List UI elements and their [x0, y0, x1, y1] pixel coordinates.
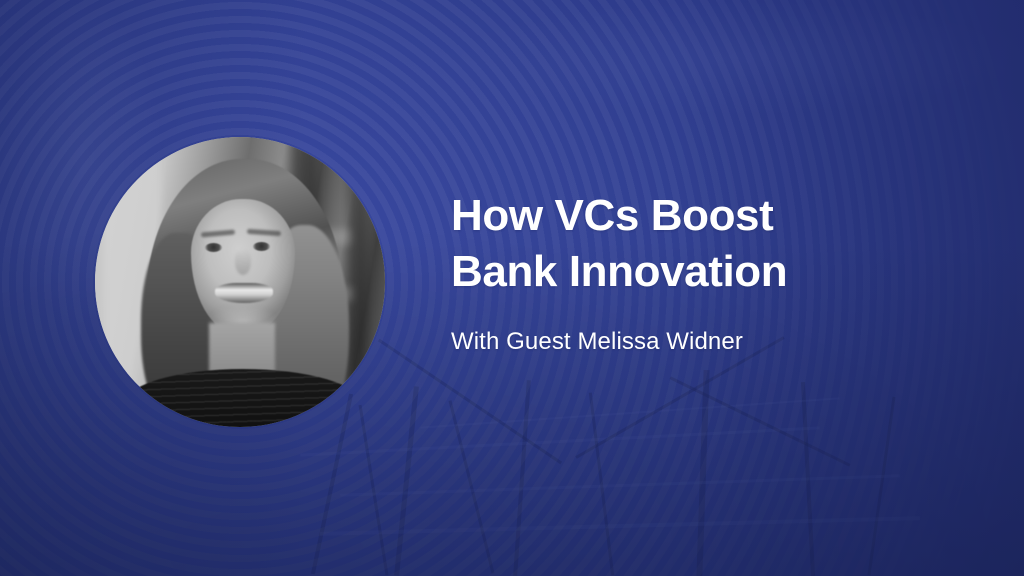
- guest-subtitle: With Guest Melissa Widner: [451, 327, 971, 357]
- guest-portrait-photo: [95, 137, 385, 427]
- title-card: How VCs Boost Bank Innovation With Guest…: [0, 0, 1024, 576]
- guest-portrait: [95, 137, 385, 427]
- text-block: How VCs Boost Bank Innovation With Guest…: [451, 188, 971, 357]
- page-title: How VCs Boost Bank Innovation: [451, 188, 971, 300]
